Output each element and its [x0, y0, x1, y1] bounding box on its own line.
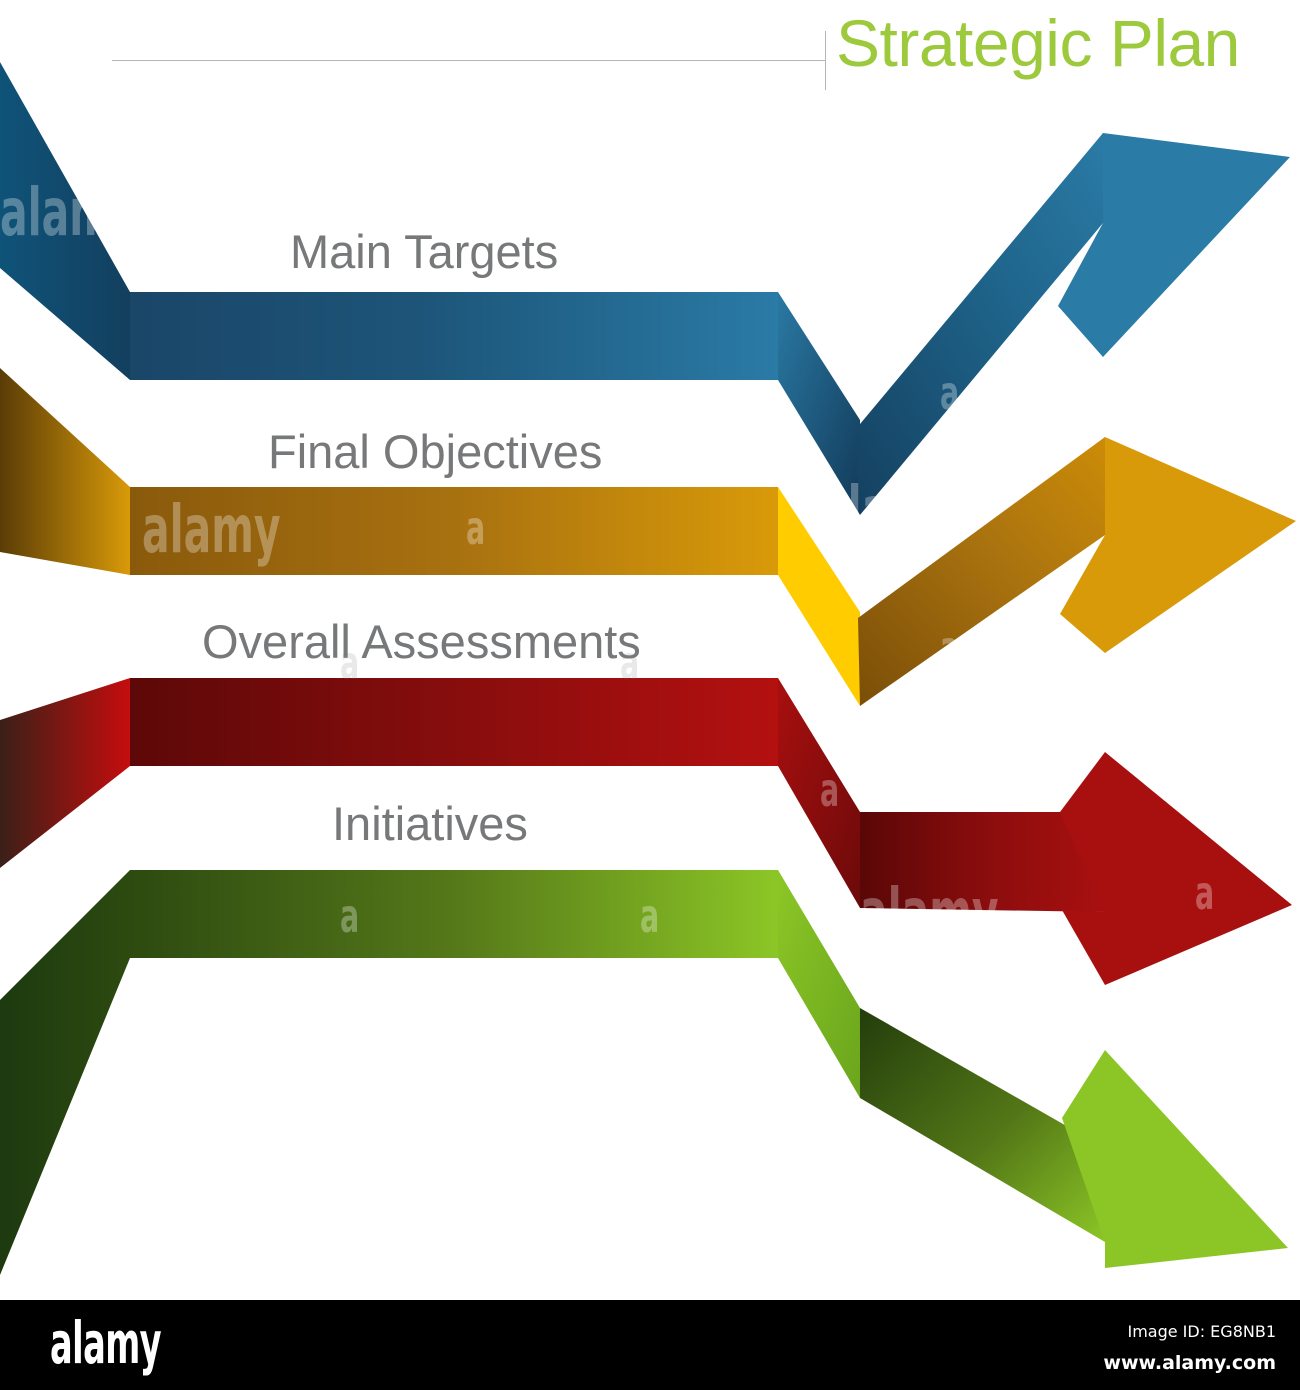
arrow-initiatives-head: [1105, 1050, 1288, 1268]
arrow-overall-assessments-descender: [778, 678, 860, 908]
arrow-main-targets-left-tail: [0, 62, 130, 380]
arrow-final-objectives-left-tail: [0, 368, 130, 575]
band-label-overall-assessments: Overall Assessments: [202, 618, 641, 665]
arrow-final-objectives[interactable]: [0, 368, 1296, 706]
arrow-overall-assessments-left-tail: [0, 678, 130, 868]
arrow-main-targets-riser: [855, 133, 1103, 515]
arrow-main-targets-descender: [778, 292, 860, 515]
arrow-overall-assessments-head: [1105, 752, 1292, 985]
band-label-initiatives: Initiatives: [332, 800, 528, 847]
stock-footer-bar: alamy Image ID: EG8NB1 www.alamy.com: [0, 1300, 1300, 1390]
arrow-initiatives-left-tail: [0, 870, 130, 1275]
arrow-overall-assessments-head-lower: [1062, 910, 1105, 985]
band-label-main-targets: Main Targets: [290, 228, 558, 275]
arrow-initiatives-band: [130, 870, 778, 958]
arrow-initiatives-descender: [778, 870, 860, 1098]
alamy-url-text: www.alamy.com: [1103, 1352, 1276, 1374]
infographic-page: alamy alamy alamy alamy a a a a a a a a …: [0, 0, 1300, 1390]
arrow-final-objectives-descender: [778, 487, 860, 706]
arrow-final-objectives-band: [130, 487, 778, 575]
alamy-logo: alamy: [50, 1314, 161, 1372]
arrow-overall-assessments-band: [130, 678, 778, 766]
arrow-main-targets-band: [130, 292, 778, 380]
band-label-final-objectives: Final Objectives: [268, 428, 602, 475]
arrow-final-objectives-head: [1105, 437, 1296, 653]
arrow-diagram: [0, 0, 1300, 1300]
arrow-main-targets-head: [1103, 133, 1290, 357]
image-id-text: Image ID: EG8NB1: [1127, 1322, 1276, 1341]
arrow-final-objectives-riser: [858, 437, 1105, 706]
